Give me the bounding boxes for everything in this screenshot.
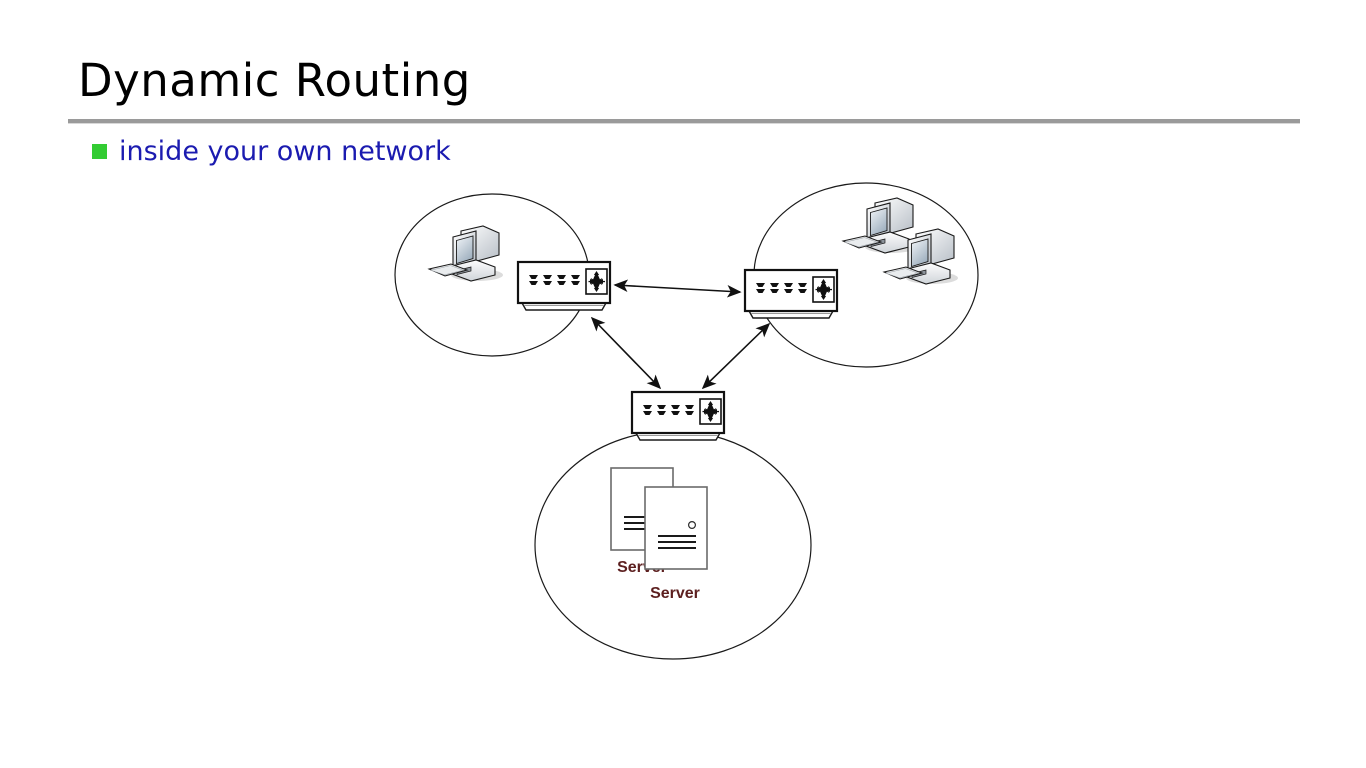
- link-right-bottom: [703, 324, 769, 388]
- link-left-bottom: [592, 318, 660, 388]
- network-links: [592, 285, 769, 388]
- link-left-right: [615, 285, 740, 292]
- router-right: [745, 270, 837, 318]
- router-bottom: [632, 392, 724, 440]
- network-topology-diagram: Server Server: [0, 0, 1366, 768]
- server-2-label: Server: [650, 585, 700, 602]
- server-2: [645, 487, 707, 569]
- router-left: [518, 262, 610, 310]
- host-left-1: [429, 226, 503, 281]
- host-right-1: [843, 198, 917, 253]
